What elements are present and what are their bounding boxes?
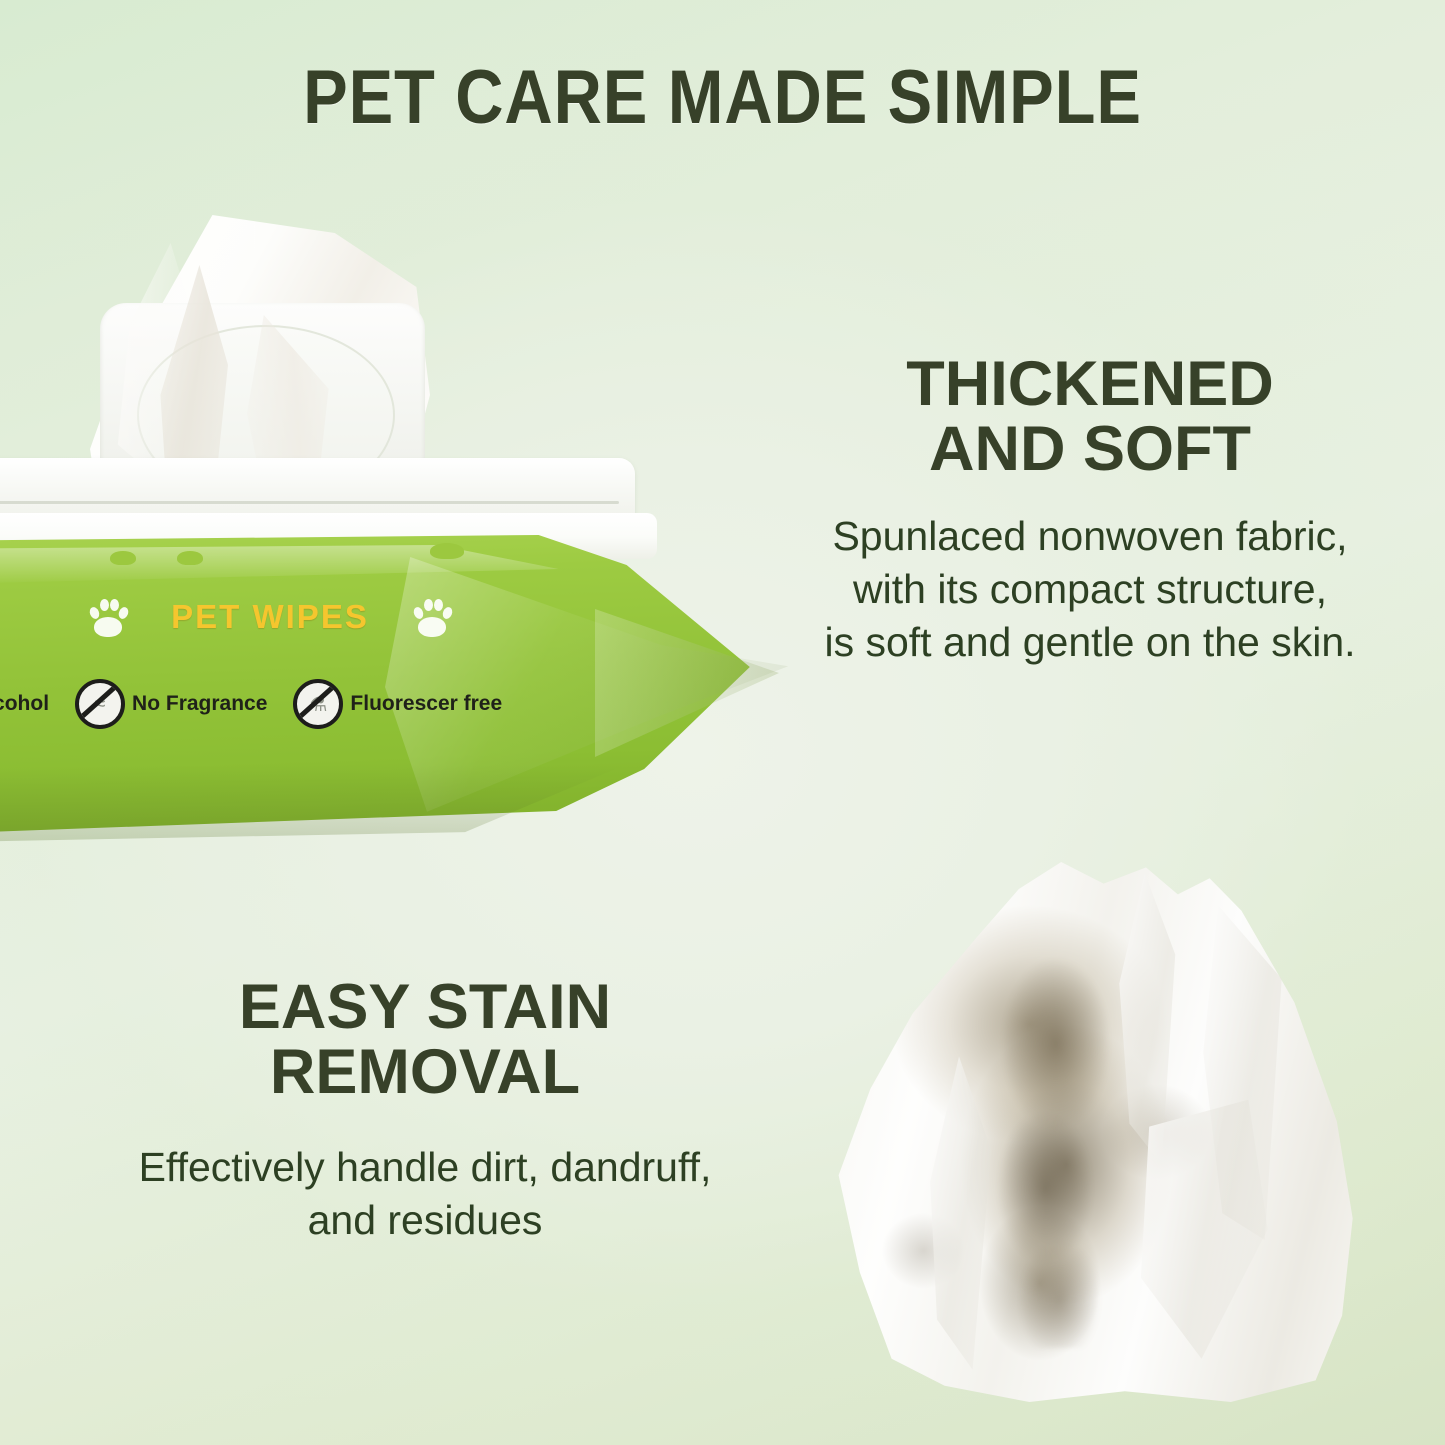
feature-body-line-2: and residues <box>75 1194 775 1247</box>
claim-label-no-alcohol: No Alcohol <box>0 692 49 716</box>
used-dirty-wipe-image <box>828 862 1358 1402</box>
pet-wipes-package-image: PET WIPES ⚑ No Alcohol ≈ <box>0 205 785 825</box>
wipe-dirt-stain <box>966 948 1146 1348</box>
lid-notch-left <box>110 551 136 565</box>
feature-heading-stain: EASY STAIN REMOVAL <box>75 975 775 1105</box>
feature-heading-line-2: REMOVAL <box>75 1040 775 1105</box>
paw-print-icon <box>89 597 127 637</box>
brand-name: PET WIPES <box>171 598 369 636</box>
page-title: PET CARE MADE SIMPLE <box>87 54 1359 141</box>
paw-print-icon <box>413 597 451 637</box>
feature-body-line-3: is soft and gentle on the skin. <box>770 616 1410 669</box>
lid-notch-mid <box>177 551 203 565</box>
feature-heading-line-2: AND SOFT <box>770 417 1410 482</box>
feature-body-thickened: Spunlaced nonwoven fabric, with its comp… <box>770 510 1410 670</box>
claim-no-alcohol: ⚑ No Alcohol <box>0 679 49 729</box>
claims-row: ⚑ No Alcohol ≈ No Fragrance ⚗ <box>0 679 540 729</box>
feature-heading-line-1: EASY STAIN <box>75 975 775 1040</box>
claim-label-fluorescer-free: Fluorescer free <box>350 692 502 716</box>
brand-row: PET WIPES <box>0 597 540 637</box>
lid-notch-right <box>430 543 464 559</box>
feature-heading-thickened: THICKENED AND SOFT <box>770 352 1410 482</box>
feature-thickened-and-soft: THICKENED AND SOFT Spunlaced nonwoven fa… <box>770 352 1410 670</box>
feature-easy-stain-removal: EASY STAIN REMOVAL Effectively handle di… <box>75 975 775 1247</box>
feature-body-stain: Effectively handle dirt, dandruff, and r… <box>75 1141 775 1248</box>
no-fragrance-icon: ≈ <box>75 679 125 729</box>
feature-heading-line-1: THICKENED <box>770 352 1410 417</box>
claim-label-no-fragrance: No Fragrance <box>132 692 267 716</box>
infographic-canvas: PET CARE MADE SIMPLE PET WIPES <box>0 0 1445 1445</box>
claim-fluorescer-free: ⚗ Fluorescer free <box>293 679 502 729</box>
package-label: PET WIPES ⚑ No Alcohol ≈ <box>0 597 540 729</box>
feature-body-line-1: Effectively handle dirt, dandruff, <box>75 1141 775 1194</box>
feature-body-line-1: Spunlaced nonwoven fabric, <box>770 510 1410 563</box>
package-lid-seam <box>0 501 619 504</box>
claim-no-fragrance: ≈ No Fragrance <box>75 679 267 729</box>
feature-body-line-2: with its compact structure, <box>770 563 1410 616</box>
no-fluorescer-icon: ⚗ <box>293 679 343 729</box>
